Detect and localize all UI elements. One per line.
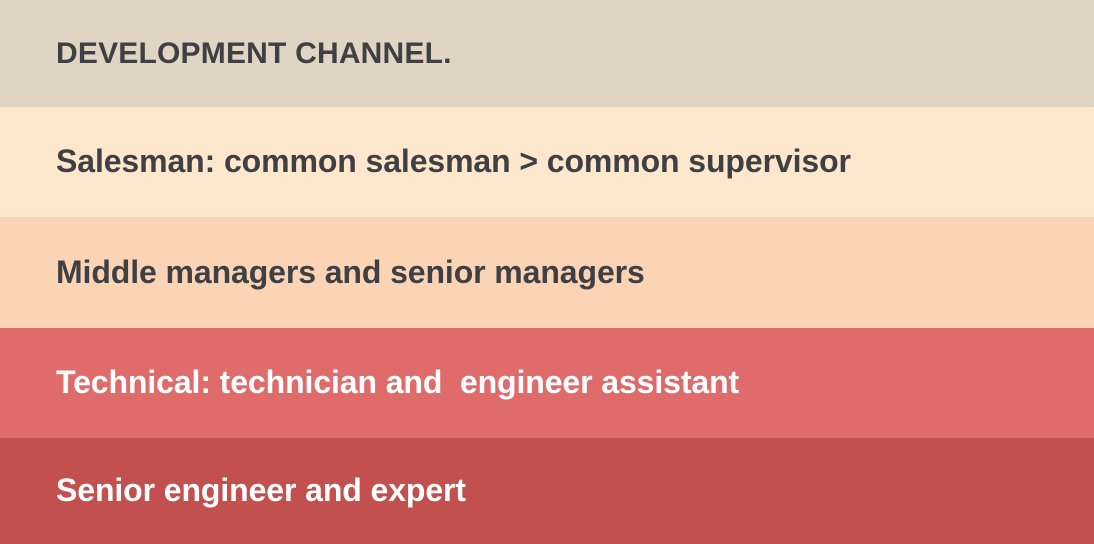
- channel-band-label: Middle managers and senior managers: [56, 255, 645, 290]
- title-band: DEVELOPMENT CHANNEL.: [0, 0, 1094, 107]
- channel-band-salesman[interactable]: Salesman: common salesman > common super…: [0, 107, 1094, 217]
- page-title: DEVELOPMENT CHANNEL.: [56, 37, 452, 70]
- channel-band-senior-engineer[interactable]: Senior engineer and expert: [0, 438, 1094, 544]
- channel-band-label: Salesman: common salesman > common super…: [56, 144, 851, 179]
- channel-band-label: Senior engineer and expert: [56, 473, 466, 508]
- development-channel-infographic: DEVELOPMENT CHANNEL. Salesman: common sa…: [0, 0, 1094, 544]
- channel-band-label: Technical: technician and engineer assis…: [56, 365, 739, 400]
- channel-band-managers[interactable]: Middle managers and senior managers: [0, 217, 1094, 328]
- channel-band-technical[interactable]: Technical: technician and engineer assis…: [0, 328, 1094, 438]
